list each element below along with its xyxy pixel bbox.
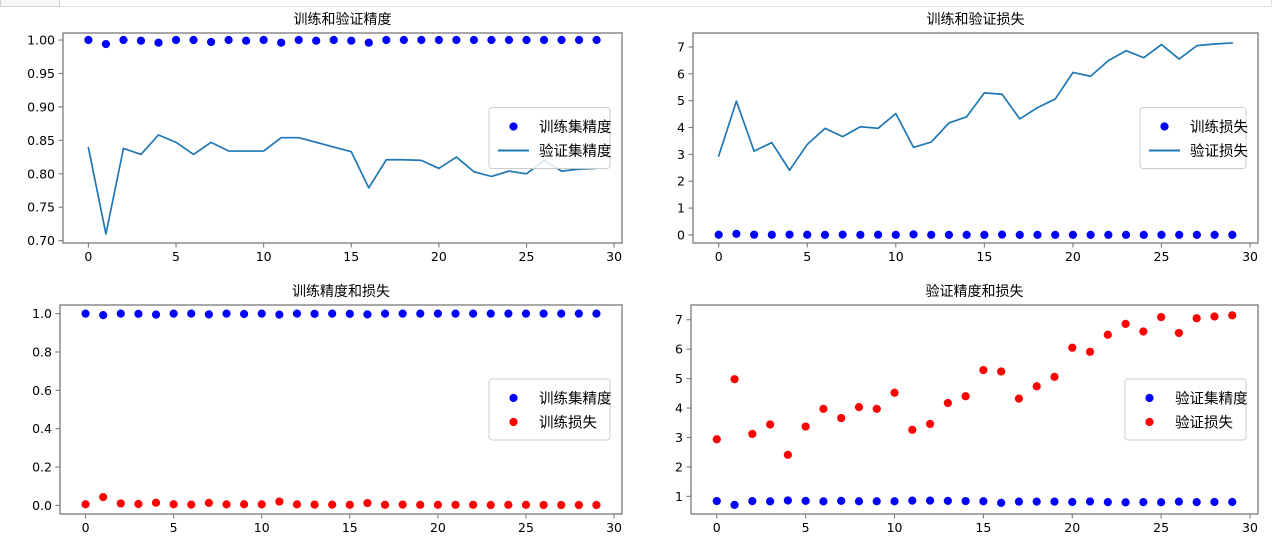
- series-marker: [715, 231, 723, 239]
- series-marker: [1139, 327, 1147, 335]
- series-marker: [1069, 231, 1077, 239]
- y-tick-label: 1: [675, 489, 683, 504]
- x-tick-label: 30: [606, 520, 622, 535]
- series-marker: [222, 310, 230, 318]
- series-marker: [469, 501, 477, 509]
- legend-label: 验证集精度: [1175, 391, 1248, 408]
- series-marker: [205, 499, 213, 507]
- series-marker: [890, 389, 898, 397]
- y-tick-label: 6: [675, 342, 683, 357]
- series-marker: [784, 451, 792, 459]
- series-marker: [1068, 344, 1076, 352]
- series-marker: [1121, 320, 1129, 328]
- series-marker: [222, 500, 230, 508]
- series-marker: [470, 36, 478, 44]
- chart-legend: 训练集精度验证集精度: [489, 108, 612, 169]
- series-marker: [84, 36, 92, 44]
- series-marker: [1175, 329, 1183, 337]
- series-marker: [926, 420, 934, 428]
- y-tick-label: 2: [675, 459, 683, 474]
- x-tick-label: 5: [172, 249, 180, 264]
- y-tick-label: 2: [677, 174, 685, 189]
- x-tick-label: 0: [84, 249, 92, 264]
- series-marker: [998, 231, 1006, 239]
- series-marker: [240, 310, 248, 318]
- y-tick-label: 6: [677, 66, 685, 81]
- series-marker: [1139, 498, 1147, 506]
- chart-title: 训练和验证精度: [294, 12, 392, 28]
- x-tick-label: 10: [887, 520, 903, 535]
- series-marker: [154, 39, 162, 47]
- series-marker: [856, 231, 864, 239]
- series-marker: [784, 496, 792, 504]
- series-marker: [487, 310, 495, 318]
- series-marker: [225, 36, 233, 44]
- x-tick-label: 5: [170, 520, 178, 535]
- series-marker: [435, 36, 443, 44]
- series-marker: [328, 501, 336, 509]
- y-tick-label: 0.90: [27, 99, 55, 114]
- y-tick-label: 7: [677, 39, 685, 54]
- series-marker: [293, 310, 301, 318]
- series-marker: [310, 310, 318, 318]
- series-marker: [592, 36, 600, 44]
- x-tick-label: 0: [82, 520, 90, 535]
- x-tick-label: 10: [256, 249, 272, 264]
- series-marker: [451, 501, 459, 509]
- series-marker: [1210, 312, 1218, 320]
- series-marker: [434, 310, 442, 318]
- y-tick-label: 1.00: [27, 33, 55, 48]
- series-marker: [1228, 231, 1236, 239]
- series-marker: [417, 36, 425, 44]
- x-tick-label: 30: [1242, 249, 1258, 264]
- legend-marker-swatch: [1145, 418, 1153, 426]
- legend-marker-swatch: [509, 394, 517, 402]
- series-marker: [874, 231, 882, 239]
- series-marker: [592, 501, 600, 509]
- series-marker: [487, 501, 495, 509]
- series-marker: [242, 37, 250, 45]
- series-marker: [837, 414, 845, 422]
- series-marker: [258, 500, 266, 508]
- x-tick-label: 25: [519, 249, 535, 264]
- series-marker: [802, 422, 810, 430]
- legend-marker-swatch: [1145, 394, 1153, 402]
- series-marker: [170, 500, 178, 508]
- series-marker: [117, 310, 125, 318]
- series-marker: [1140, 231, 1148, 239]
- y-tick-label: 4: [677, 120, 685, 135]
- y-tick-label: 0: [677, 227, 685, 242]
- series-marker: [1104, 231, 1112, 239]
- series-marker: [1157, 313, 1165, 321]
- legend-label: 训练损失: [539, 415, 597, 432]
- series-marker: [1193, 314, 1201, 322]
- series-marker: [275, 497, 283, 505]
- series-marker: [275, 310, 283, 318]
- series-marker: [189, 36, 197, 44]
- series-marker: [1050, 373, 1058, 381]
- series-marker: [540, 310, 548, 318]
- series-marker: [945, 231, 953, 239]
- series-marker: [1050, 498, 1058, 506]
- series-marker: [575, 310, 583, 318]
- y-tick-label: 0.80: [27, 166, 55, 181]
- chart-legend: 训练损失验证损失: [1140, 108, 1248, 169]
- series-marker: [172, 36, 180, 44]
- x-tick-label: 15: [975, 520, 991, 535]
- x-tick-label: 10: [254, 520, 270, 535]
- series-marker: [962, 392, 970, 400]
- series-marker: [117, 499, 125, 507]
- series-marker: [1033, 498, 1041, 506]
- series-marker: [363, 310, 371, 318]
- series-marker: [926, 497, 934, 505]
- series-marker: [187, 310, 195, 318]
- y-tick-label: 0.95: [27, 66, 55, 81]
- y-tick-label: 0.70: [27, 233, 55, 248]
- x-tick-label: 25: [1154, 249, 1170, 264]
- series-marker: [1104, 498, 1112, 506]
- series-marker: [821, 231, 829, 239]
- chart-panel-train-accuracy-and-loss: 训练精度和损失0510152025300.00.20.40.60.81.0训练集…: [0, 283, 636, 556]
- series-marker: [137, 37, 145, 45]
- series-marker: [1051, 231, 1059, 239]
- series-marker: [732, 230, 740, 238]
- x-tick-label: 0: [715, 249, 723, 264]
- chart-svg: 训练和验证损失05101520253001234567训练损失验证损失: [636, 7, 1272, 283]
- series-marker: [1175, 231, 1183, 239]
- series-marker: [1193, 231, 1201, 239]
- series-marker: [837, 497, 845, 505]
- series-marker: [713, 497, 721, 505]
- y-tick-label: 0.4: [32, 421, 52, 436]
- series-marker: [102, 40, 110, 48]
- series-marker: [205, 310, 213, 318]
- y-tick-label: 0.75: [27, 200, 55, 215]
- chart-panel-validation-accuracy-and-loss: 验证精度和损失0510152025301234567验证集精度验证损失: [636, 283, 1272, 556]
- series-marker: [452, 36, 460, 44]
- y-tick-label: 0.85: [27, 133, 55, 148]
- legend-marker-swatch: [509, 122, 517, 130]
- series-marker: [310, 501, 318, 509]
- series-marker: [908, 497, 916, 505]
- x-tick-label: 10: [888, 249, 904, 264]
- series-marker: [944, 497, 952, 505]
- series-marker: [312, 37, 320, 45]
- series-marker: [81, 310, 89, 318]
- series-marker: [713, 435, 721, 443]
- series-marker: [1210, 498, 1218, 506]
- series-marker: [819, 497, 827, 505]
- x-tick-label: 15: [342, 520, 358, 535]
- chart-svg: 训练精度和损失0510152025300.00.20.40.60.81.0训练集…: [0, 283, 636, 556]
- series-marker: [134, 500, 142, 508]
- series-marker: [1157, 498, 1165, 506]
- series-marker: [504, 310, 512, 318]
- series-marker: [416, 310, 424, 318]
- series-marker: [890, 497, 898, 505]
- series-marker: [927, 231, 935, 239]
- series-marker: [592, 310, 600, 318]
- series-marker: [399, 501, 407, 509]
- series-marker: [381, 501, 389, 509]
- series-marker: [892, 231, 900, 239]
- series-marker: [434, 501, 442, 509]
- series-marker: [381, 310, 389, 318]
- series-marker: [855, 497, 863, 505]
- series-marker: [522, 310, 530, 318]
- series-marker: [187, 501, 195, 509]
- x-tick-label: 20: [431, 249, 447, 264]
- figure-root: 训练和验证精度0510152025300.700.750.800.850.900…: [0, 0, 1272, 556]
- legend-label: 验证集精度: [539, 143, 612, 160]
- series-marker: [487, 36, 495, 44]
- series-marker: [1193, 498, 1201, 506]
- x-tick-label: 30: [606, 249, 622, 264]
- series-marker: [962, 497, 970, 505]
- series-marker: [416, 501, 424, 509]
- series-marker: [382, 36, 390, 44]
- y-tick-label: 5: [677, 93, 685, 108]
- series-marker: [873, 405, 881, 413]
- series-marker: [1015, 498, 1023, 506]
- subplot-grid: 训练和验证精度0510152025300.700.750.800.850.900…: [0, 7, 1272, 556]
- legend-label: 训练集精度: [539, 119, 612, 136]
- series-marker: [293, 500, 301, 508]
- series-marker: [277, 39, 285, 47]
- series-marker: [505, 36, 513, 44]
- chart-legend: 验证集精度验证损失: [1125, 379, 1248, 440]
- x-tick-label: 15: [343, 249, 359, 264]
- legend-marker-swatch: [509, 418, 517, 426]
- chart-panel-train-val-accuracy: 训练和验证精度0510152025300.700.750.800.850.900…: [0, 7, 636, 283]
- series-marker: [400, 36, 408, 44]
- chart-title: 训练和验证损失: [927, 12, 1025, 28]
- series-marker: [1068, 498, 1076, 506]
- series-marker: [730, 375, 738, 383]
- y-tick-label: 1: [677, 201, 685, 216]
- series-marker: [1157, 231, 1165, 239]
- series-marker: [540, 501, 548, 509]
- series-marker: [451, 310, 459, 318]
- y-tick-label: 5: [675, 371, 683, 386]
- series-marker: [504, 501, 512, 509]
- series-marker: [750, 231, 758, 239]
- series-marker: [1175, 498, 1183, 506]
- series-marker: [1033, 231, 1041, 239]
- series-marker: [785, 230, 793, 238]
- series-marker: [522, 501, 530, 509]
- series-marker: [1086, 348, 1094, 356]
- series-marker: [1015, 395, 1023, 403]
- series-marker: [1087, 231, 1095, 239]
- series-marker: [346, 310, 354, 318]
- notebook-cell-body: [60, 0, 1272, 7]
- series-marker: [330, 36, 338, 44]
- series-marker: [134, 310, 142, 318]
- x-tick-label: 15: [976, 249, 992, 264]
- series-marker: [295, 36, 303, 44]
- chart-svg: 训练和验证精度0510152025300.700.750.800.850.900…: [0, 7, 636, 283]
- series-marker: [347, 37, 355, 45]
- series-marker: [963, 231, 971, 239]
- series-marker: [328, 310, 336, 318]
- series-marker: [81, 500, 89, 508]
- series-marker: [979, 497, 987, 505]
- legend-label: 训练集精度: [539, 391, 612, 408]
- legend-label: 验证损失: [1175, 415, 1233, 432]
- legend-label: 训练损失: [1190, 119, 1248, 136]
- series-marker: [119, 36, 127, 44]
- series-marker: [363, 499, 371, 507]
- series-marker: [260, 36, 268, 44]
- series-marker: [152, 499, 160, 507]
- y-tick-label: 0.2: [32, 460, 52, 475]
- series-marker: [909, 230, 917, 238]
- y-tick-label: 3: [675, 430, 683, 445]
- x-tick-label: 5: [802, 520, 810, 535]
- y-tick-label: 7: [675, 312, 683, 327]
- series-marker: [240, 500, 248, 508]
- chart-panel-train-val-loss: 训练和验证损失05101520253001234567训练损失验证损失: [636, 7, 1272, 283]
- series-marker: [997, 367, 1005, 375]
- series-marker: [1121, 498, 1129, 506]
- series-marker: [258, 310, 266, 318]
- series-marker: [1228, 311, 1236, 319]
- series-marker: [730, 501, 738, 509]
- x-tick-label: 0: [713, 520, 721, 535]
- series-marker: [365, 39, 373, 47]
- series-marker: [346, 501, 354, 509]
- legend-marker-swatch: [1160, 122, 1168, 130]
- series-marker: [980, 231, 988, 239]
- series-marker: [997, 499, 1005, 507]
- y-tick-label: 0.8: [32, 344, 52, 359]
- series-marker: [979, 366, 987, 374]
- series-marker: [855, 403, 863, 411]
- series-marker: [575, 501, 583, 509]
- series-marker: [1228, 498, 1236, 506]
- series-marker: [1211, 231, 1219, 239]
- series-marker: [469, 310, 477, 318]
- series-marker: [766, 420, 774, 428]
- y-tick-label: 0.0: [32, 498, 52, 513]
- series-marker: [1016, 231, 1024, 239]
- series-marker: [908, 426, 916, 434]
- series-marker: [944, 399, 952, 407]
- series-marker: [748, 497, 756, 505]
- series-marker: [540, 36, 548, 44]
- chart-svg: 验证精度和损失0510152025301234567验证集精度验证损失: [636, 283, 1272, 556]
- series-marker: [557, 310, 565, 318]
- chart-title: 验证精度和损失: [926, 284, 1024, 300]
- series-marker: [766, 497, 774, 505]
- x-tick-label: 20: [430, 520, 446, 535]
- x-tick-label: 5: [803, 249, 811, 264]
- series-marker: [170, 310, 178, 318]
- notebook-cell-prompt: [0, 0, 60, 7]
- series-marker: [522, 36, 530, 44]
- series-marker: [1122, 231, 1130, 239]
- series-marker: [802, 497, 810, 505]
- series-marker: [1104, 331, 1112, 339]
- series-marker: [575, 36, 583, 44]
- series-marker: [819, 405, 827, 413]
- series-marker: [768, 231, 776, 239]
- x-tick-label: 25: [1153, 520, 1169, 535]
- series-marker: [207, 38, 215, 46]
- notebook-cell-strip: [0, 0, 1272, 7]
- y-tick-label: 3: [677, 147, 685, 162]
- series-marker: [99, 311, 107, 319]
- series-marker: [1033, 382, 1041, 390]
- x-tick-label: 20: [1064, 520, 1080, 535]
- series-marker: [399, 310, 407, 318]
- x-tick-label: 25: [518, 520, 534, 535]
- chart-title: 训练精度和损失: [292, 284, 390, 300]
- series-marker: [557, 36, 565, 44]
- legend-label: 验证损失: [1190, 143, 1248, 160]
- chart-legend: 训练集精度训练损失: [489, 379, 612, 440]
- series-marker: [1086, 497, 1094, 505]
- series-marker: [839, 230, 847, 238]
- series-marker: [803, 231, 811, 239]
- series-marker: [748, 430, 756, 438]
- y-tick-label: 1.0: [32, 306, 52, 321]
- series-marker: [152, 310, 160, 318]
- x-tick-label: 20: [1065, 249, 1081, 264]
- series-marker: [873, 497, 881, 505]
- y-tick-label: 0.6: [32, 383, 52, 398]
- y-tick-label: 4: [675, 401, 683, 416]
- series-marker: [99, 493, 107, 501]
- x-tick-label: 30: [1242, 520, 1258, 535]
- series-marker: [557, 501, 565, 509]
